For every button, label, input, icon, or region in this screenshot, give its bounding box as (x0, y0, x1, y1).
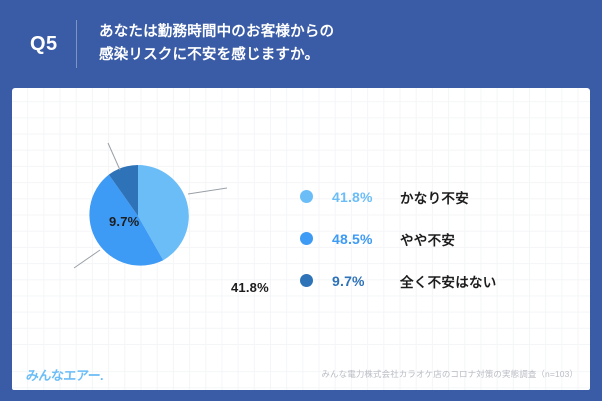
legend-label: 全く不安はない (400, 271, 497, 291)
legend-item-kanari-fuan[interactable]: 41.8% かなり不安 (284, 182, 584, 211)
legend-color-dot-icon (300, 190, 313, 203)
question-text: あなたは勤務時間中のお客様からの 感染リスクに不安を感じますか。 (99, 21, 334, 68)
chart-legend: 41.8% かなり不安 48.5% やや不安 9.7% 全く不安はない (284, 182, 584, 308)
legend-label: かなり不安 (400, 187, 469, 207)
brand-logo[interactable]: みんなエアー. (25, 365, 104, 384)
legend-percent: 48.5% (332, 231, 400, 247)
source-caption: みんな電力株式会社カラオケ店のコロナ対策の実態調査（n=103） (321, 368, 578, 380)
legend-percent: 9.7% (332, 273, 400, 289)
legend-percent: 41.8% (332, 189, 400, 205)
legend-dot-cell (284, 274, 332, 287)
pie-chart: 41.8% 48.5% 9.7% (12, 88, 302, 386)
pie-label-kanari-fuan: 41.8% (231, 280, 269, 295)
pie-label-mattaku-fuan-nai: 9.7% (109, 214, 139, 229)
question-line-1: あなたは勤務時間中のお客様からの (99, 21, 334, 44)
legend-item-yaya-fuan[interactable]: 48.5% やや不安 (284, 224, 584, 253)
question-number: Q5 (30, 33, 76, 56)
slide-footer: みんなエアー. みんな電力株式会社カラオケ店のコロナ対策の実態調査（n=103） (12, 358, 590, 390)
leader-line-yaya (74, 250, 100, 268)
slide-background: Q5 あなたは勤務時間中のお客様からの 感染リスクに不安を感じますか。 (0, 0, 602, 401)
leader-line-mattaku (108, 143, 120, 170)
chart-card: 41.8% 48.5% 9.7% 41.8% かなり不安 48.5% やや不安 (12, 88, 590, 386)
header-divider (76, 20, 77, 68)
legend-color-dot-icon (300, 232, 313, 245)
legend-color-dot-icon (300, 274, 313, 287)
slide-header: Q5 あなたは勤務時間中のお客様からの 感染リスクに不安を感じますか。 (0, 0, 602, 88)
legend-item-mattaku-fuan-nai[interactable]: 9.7% 全く不安はない (284, 266, 584, 295)
legend-label: やや不安 (400, 229, 455, 249)
legend-dot-cell (284, 232, 332, 245)
pie-chart-svg (12, 88, 302, 386)
question-line-2: 感染リスクに不安を感じますか。 (99, 44, 334, 67)
legend-dot-cell (284, 190, 332, 203)
leader-line-kanari (188, 188, 227, 194)
